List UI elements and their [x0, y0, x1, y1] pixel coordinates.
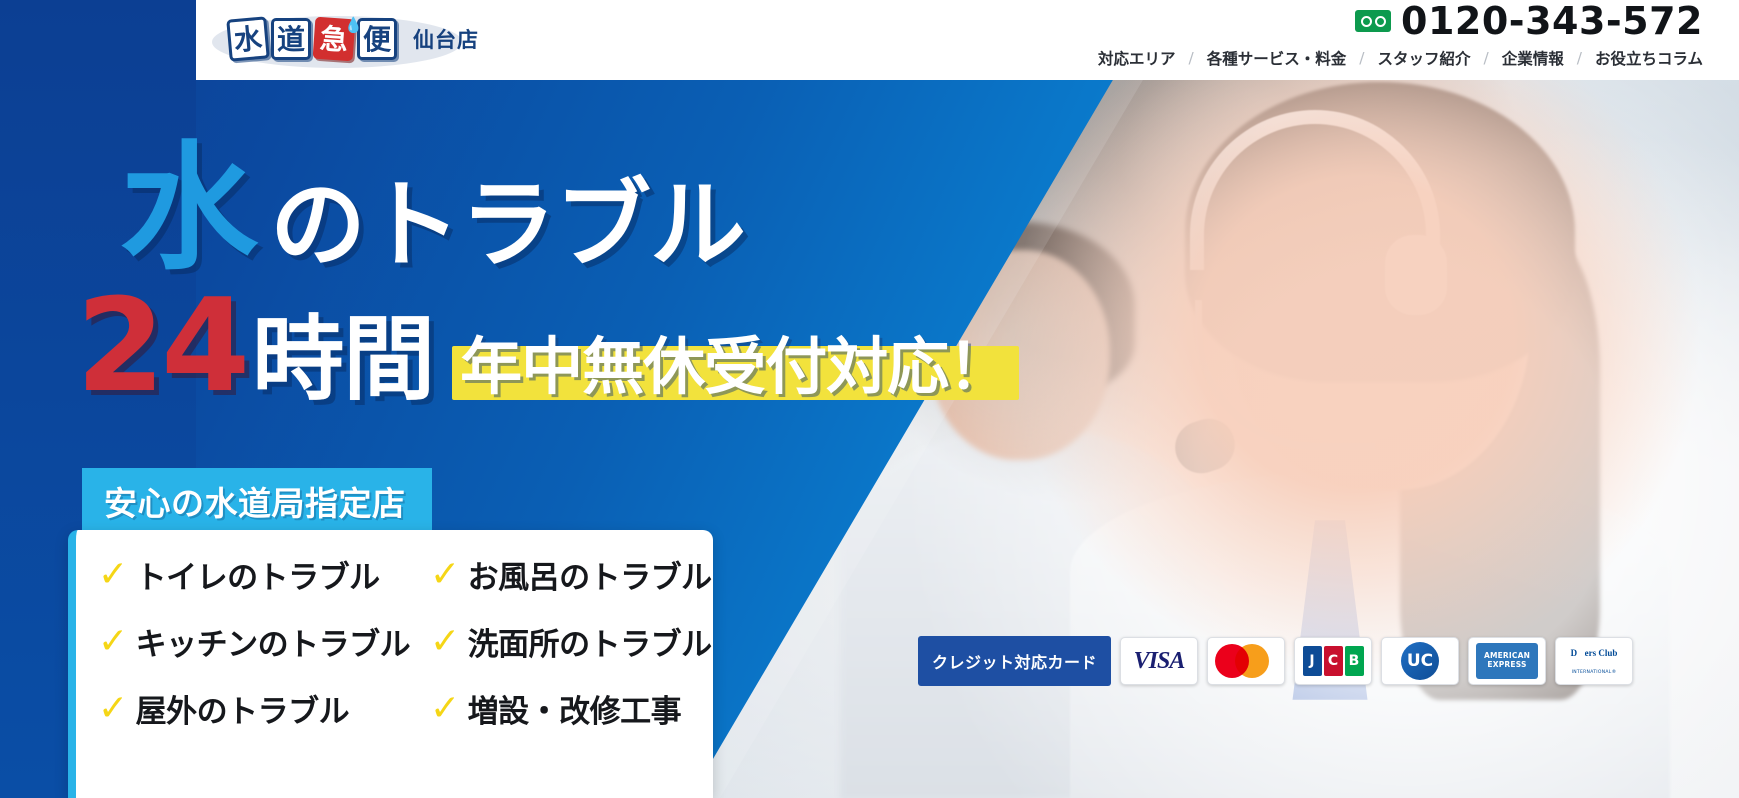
headline-line-2: 24 時間 年中無休受付対応！ — [76, 288, 1019, 406]
check-icon: ✓ — [430, 557, 460, 593]
service-checklist: ✓ トイレのトラブル ✓ お風呂のトラブル ✓ キッチンのトラブル ✓ 洗面所の… — [98, 552, 701, 731]
highlight-text: 年中無休受付対応！ — [460, 330, 1009, 403]
list-item[interactable]: ✓ 洗面所のトラブル — [430, 619, 730, 664]
headline-unit: 時間 — [252, 314, 434, 406]
headset-band-icon — [1190, 110, 1440, 270]
hero-page: 水 道 急 便 💧 仙台店 0120-343-572 対応エリア / 各種サービ… — [0, 0, 1739, 798]
list-item-label: 洗面所のトラブル — [468, 619, 712, 664]
diners-club-card-icon: Diners Club INTERNATIONAL® — [1555, 637, 1633, 685]
list-item[interactable]: ✓ 増設・改修工事 — [430, 686, 730, 731]
nav-item-staff[interactable]: スタッフ紹介 — [1377, 47, 1470, 69]
check-icon: ✓ — [430, 691, 460, 727]
diners-line-2: INTERNATIONAL® — [1572, 670, 1617, 675]
freedial-icon — [1355, 10, 1391, 32]
nav-separator: / — [1359, 49, 1364, 67]
nav-item-services-pricing[interactable]: 各種サービス・料金 — [1207, 47, 1347, 69]
credit-card-strip: クレジット対応カード VISA JCB UC AMERICAN EXPRESS — [918, 636, 1633, 686]
hero-headline: 水 のトラブル 24 時間 年中無休受付対応！ — [120, 140, 1019, 406]
nav-item-company-info[interactable]: 企業情報 — [1502, 47, 1564, 69]
credit-card-label: クレジット対応カード — [918, 636, 1111, 686]
nav-item-service-area[interactable]: 対応エリア — [1098, 47, 1176, 69]
logo-box-1: 水 — [226, 16, 270, 61]
service-checklist-card: ✓ トイレのトラブル ✓ お風呂のトラブル ✓ キッチンのトラブル ✓ 洗面所の… — [68, 530, 713, 798]
logo-kanji-boxes: 水 道 急 便 💧 — [228, 18, 397, 60]
jcb-logo-mark: JCB — [1303, 646, 1364, 676]
check-icon: ✓ — [430, 624, 460, 660]
main-navigation[interactable]: 対応エリア / 各種サービス・料金 / スタッフ紹介 / 企業情報 / お役立ち… — [1098, 47, 1703, 69]
list-item-label: トイレのトラブル — [136, 552, 380, 597]
check-icon: ✓ — [98, 557, 128, 593]
phone-number[interactable]: 0120-343-572 — [1401, 2, 1703, 40]
mastercard-card-icon — [1207, 637, 1285, 685]
check-icon: ✓ — [98, 624, 128, 660]
logo-box-4: 便 — [357, 18, 397, 60]
foreground-operator-hair — [1185, 82, 1575, 382]
headline-number: 24 — [76, 288, 246, 406]
list-item-label: 屋外のトラブル — [136, 686, 350, 731]
foreground-operator-hair-back — [1400, 230, 1600, 700]
amex-card-icon: AMERICAN EXPRESS — [1468, 637, 1546, 685]
diners-logo-mark: Diners Club INTERNATIONAL® — [1571, 644, 1618, 678]
nav-separator: / — [1577, 49, 1582, 67]
list-item-label: 増設・改修工事 — [468, 686, 682, 731]
amex-logo-mark: AMERICAN EXPRESS — [1476, 643, 1538, 679]
nav-separator: / — [1483, 49, 1488, 67]
list-item[interactable]: ✓ お風呂のトラブル — [430, 552, 730, 597]
header-phone[interactable]: 0120-343-572 — [1355, 2, 1703, 40]
nav-separator: / — [1188, 49, 1193, 67]
foreground-operator-head — [1230, 120, 1530, 490]
headline-line-1-rest: のトラブル — [270, 174, 745, 278]
list-item[interactable]: ✓ 屋外のトラブル — [98, 686, 430, 731]
headline-line-1: 水 のトラブル — [120, 140, 1019, 278]
foreground-operator-body — [1070, 470, 1670, 798]
headset-mic-arm-icon — [1195, 300, 1375, 450]
status-badge: 安心の水道局指定店 — [82, 468, 432, 536]
headline-highlight: 年中無休受付対応！ — [452, 328, 1019, 406]
headline-accent-word: 水 — [120, 140, 256, 278]
visa-logo-text: VISA — [1134, 648, 1185, 675]
visa-card-icon: VISA — [1120, 637, 1198, 685]
mastercard-logo-mark — [1215, 644, 1277, 678]
list-item[interactable]: ✓ トイレのトラブル — [98, 552, 430, 597]
uc-logo-text: UC — [1401, 642, 1439, 680]
logo-box-2: 道 — [271, 18, 311, 60]
headset-mic-tip-icon — [1168, 412, 1241, 480]
jcb-card-icon: JCB — [1294, 637, 1372, 685]
list-item[interactable]: ✓ キッチンのトラブル — [98, 619, 430, 664]
headset-earcup-icon — [1385, 235, 1447, 315]
nav-item-column[interactable]: お役立ちコラム — [1595, 47, 1703, 69]
uc-card-icon: UC — [1381, 637, 1459, 685]
list-item-label: キッチンのトラブル — [136, 619, 411, 664]
list-item-label: お風呂のトラブル — [468, 552, 712, 597]
amex-line-2: EXPRESS — [1487, 661, 1526, 670]
water-drop-icon: 💧 — [344, 16, 363, 34]
site-logo[interactable]: 水 道 急 便 💧 仙台店 — [228, 8, 479, 70]
check-icon: ✓ — [98, 691, 128, 727]
